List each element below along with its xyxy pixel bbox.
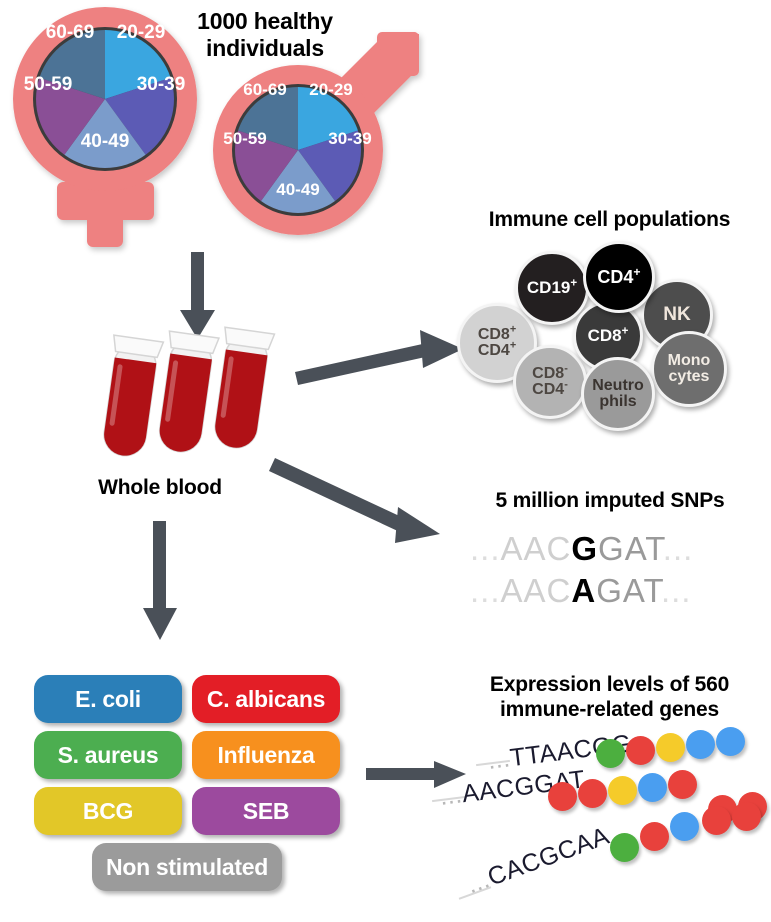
bubble-label: NK xyxy=(663,305,690,324)
bubble-label-line2: phils xyxy=(599,393,636,410)
expression-dot xyxy=(640,822,669,851)
bubble-label-line1: Mono xyxy=(668,352,711,369)
blood-tube-2 xyxy=(153,331,219,455)
minus-sign: - xyxy=(564,362,568,374)
stimulation-e-coli[interactable]: E. coli xyxy=(34,675,182,723)
arrow-cohort-to-blood xyxy=(180,252,215,339)
section-title-snps: 5 million imputed SNPs xyxy=(455,489,765,514)
expression-dot xyxy=(656,733,685,762)
stimulation-seb[interactable]: SEB xyxy=(192,787,340,835)
female-pie-label-50-59: 50-59 xyxy=(24,74,73,95)
stimulation-label: Non stimulated xyxy=(106,854,268,881)
expression-dot xyxy=(578,779,607,808)
female-pie-label-30-39: 30-39 xyxy=(137,74,186,95)
arrow-blood-to-snps xyxy=(269,458,440,543)
expression-dot xyxy=(548,782,577,811)
stimulation-label: Influenza xyxy=(218,742,315,769)
snp-suffix: GAT xyxy=(598,530,663,567)
expression-bases-row-3: ...CACGCAA xyxy=(463,822,613,900)
snp-prefix: AAC xyxy=(501,572,572,609)
expression-bases: CACGCAA xyxy=(484,822,613,892)
bubble-label: CD8 xyxy=(588,326,622,345)
plus-sign: + xyxy=(570,278,577,290)
section-title-immune-cells: Immune cell populations xyxy=(452,208,767,233)
expression-dot xyxy=(608,776,637,805)
stimulation-label: E. coli xyxy=(75,686,141,713)
snp-allele-row-2: ...AACAGAT... xyxy=(470,572,691,610)
blood-tube-3 xyxy=(209,327,275,451)
stimulation-label: SEB xyxy=(243,798,289,825)
male-pie-label-20-29: 20-29 xyxy=(309,80,352,99)
snp-ellipsis-right: ... xyxy=(661,572,692,609)
expression-dot xyxy=(638,773,667,802)
plus-sign: + xyxy=(633,265,640,279)
minus-sign: - xyxy=(564,379,568,391)
expression-dot xyxy=(626,736,655,765)
female-pie-label-40-49: 40-49 xyxy=(81,131,130,152)
expression-dot xyxy=(670,812,699,841)
stimulation-label: BCG xyxy=(83,798,133,825)
plus-sign: + xyxy=(622,326,629,338)
immune-bubble-neutrophils: Neutro phils xyxy=(581,357,655,431)
snp-variant-base: G xyxy=(571,530,598,567)
snp-variant-base: A xyxy=(571,572,596,609)
stimulation-c-albicans[interactable]: C. albicans xyxy=(192,675,340,723)
snp-prefix: AAC xyxy=(501,530,572,567)
immune-cell-bubble-group: CD8+ CD4+ CD19+ CD4+ NK CD8+ CD8- CD4- xyxy=(455,235,765,410)
bubble-label-line2: CD4 xyxy=(532,381,564,398)
plus-sign: + xyxy=(510,340,516,352)
blood-tube-1 xyxy=(97,335,163,459)
bubble-label-line1: CD8 xyxy=(532,365,564,382)
plus-sign: + xyxy=(510,323,516,335)
bubble-label: CD19 xyxy=(527,278,570,297)
stimulation-bcg[interactable]: BCG xyxy=(34,787,182,835)
bubble-label-line2: cytes xyxy=(669,368,710,385)
expression-dot xyxy=(702,806,731,835)
bubble-label-line1: Neutro xyxy=(592,377,644,394)
arrow-blood-to-stimulations xyxy=(143,521,177,640)
snp-sequence-group: ...AACGGAT... ...AACAGAT... xyxy=(460,530,760,620)
arrow-blood-to-immune xyxy=(295,330,463,385)
whole-blood-label: Whole blood xyxy=(55,476,265,501)
expression-dot xyxy=(610,833,639,862)
snp-suffix: GAT xyxy=(596,572,661,609)
male-pie-label-30-39: 30-39 xyxy=(328,129,371,148)
stimulation-label: C. albicans xyxy=(207,686,325,713)
expression-dot xyxy=(686,730,715,759)
expression-sequence-group: ...TTAACGG ...AACGGAT ...C xyxy=(470,740,770,910)
bubble-label-line1: CD8 xyxy=(478,326,510,343)
female-pie-label-60-69: 60-69 xyxy=(46,22,95,43)
immune-bubble-cd4: CD4+ xyxy=(583,241,655,313)
bubble-label: CD4 xyxy=(597,267,633,287)
immune-bubble-cd8neg-cd4neg: CD8- CD4- xyxy=(513,345,587,419)
expression-dot xyxy=(716,727,745,756)
snp-allele-row-1: ...AACGGAT... xyxy=(470,530,693,568)
page-title-cohort: 1000 healthy individuals xyxy=(150,8,380,62)
whole-blood-tubes xyxy=(95,330,275,470)
expression-dot xyxy=(668,770,697,799)
male-pie-label-40-49: 40-49 xyxy=(276,180,319,199)
male-pie-label-60-69: 60-69 xyxy=(243,80,286,99)
bubble-label-line2: CD4 xyxy=(478,342,510,359)
stimulation-s-aureus[interactable]: S. aureus xyxy=(34,731,182,779)
immune-bubble-cd19: CD19+ xyxy=(515,251,589,325)
male-pie-label-50-59: 50-59 xyxy=(223,129,266,148)
snp-ellipsis-left: ... xyxy=(470,572,501,609)
expression-dot xyxy=(732,802,761,831)
stimulation-label: S. aureus xyxy=(58,742,159,769)
snp-ellipsis-right: ... xyxy=(663,530,694,567)
expression-dot xyxy=(596,739,625,768)
stimulation-influenza[interactable]: Influenza xyxy=(192,731,340,779)
snp-ellipsis-left: ... xyxy=(470,530,501,567)
stimulation-non-stimulated[interactable]: Non stimulated xyxy=(92,843,282,891)
section-title-expression: Expression levels of 560 immune-related … xyxy=(452,673,767,723)
immune-bubble-monocytes: Mono cytes xyxy=(651,331,727,407)
figure-canvas: 20-29 30-39 40-49 50-59 60-69 20-2 xyxy=(0,0,771,922)
stimulation-condition-group: E. coli C. albicans S. aureus Influenza … xyxy=(34,675,344,890)
